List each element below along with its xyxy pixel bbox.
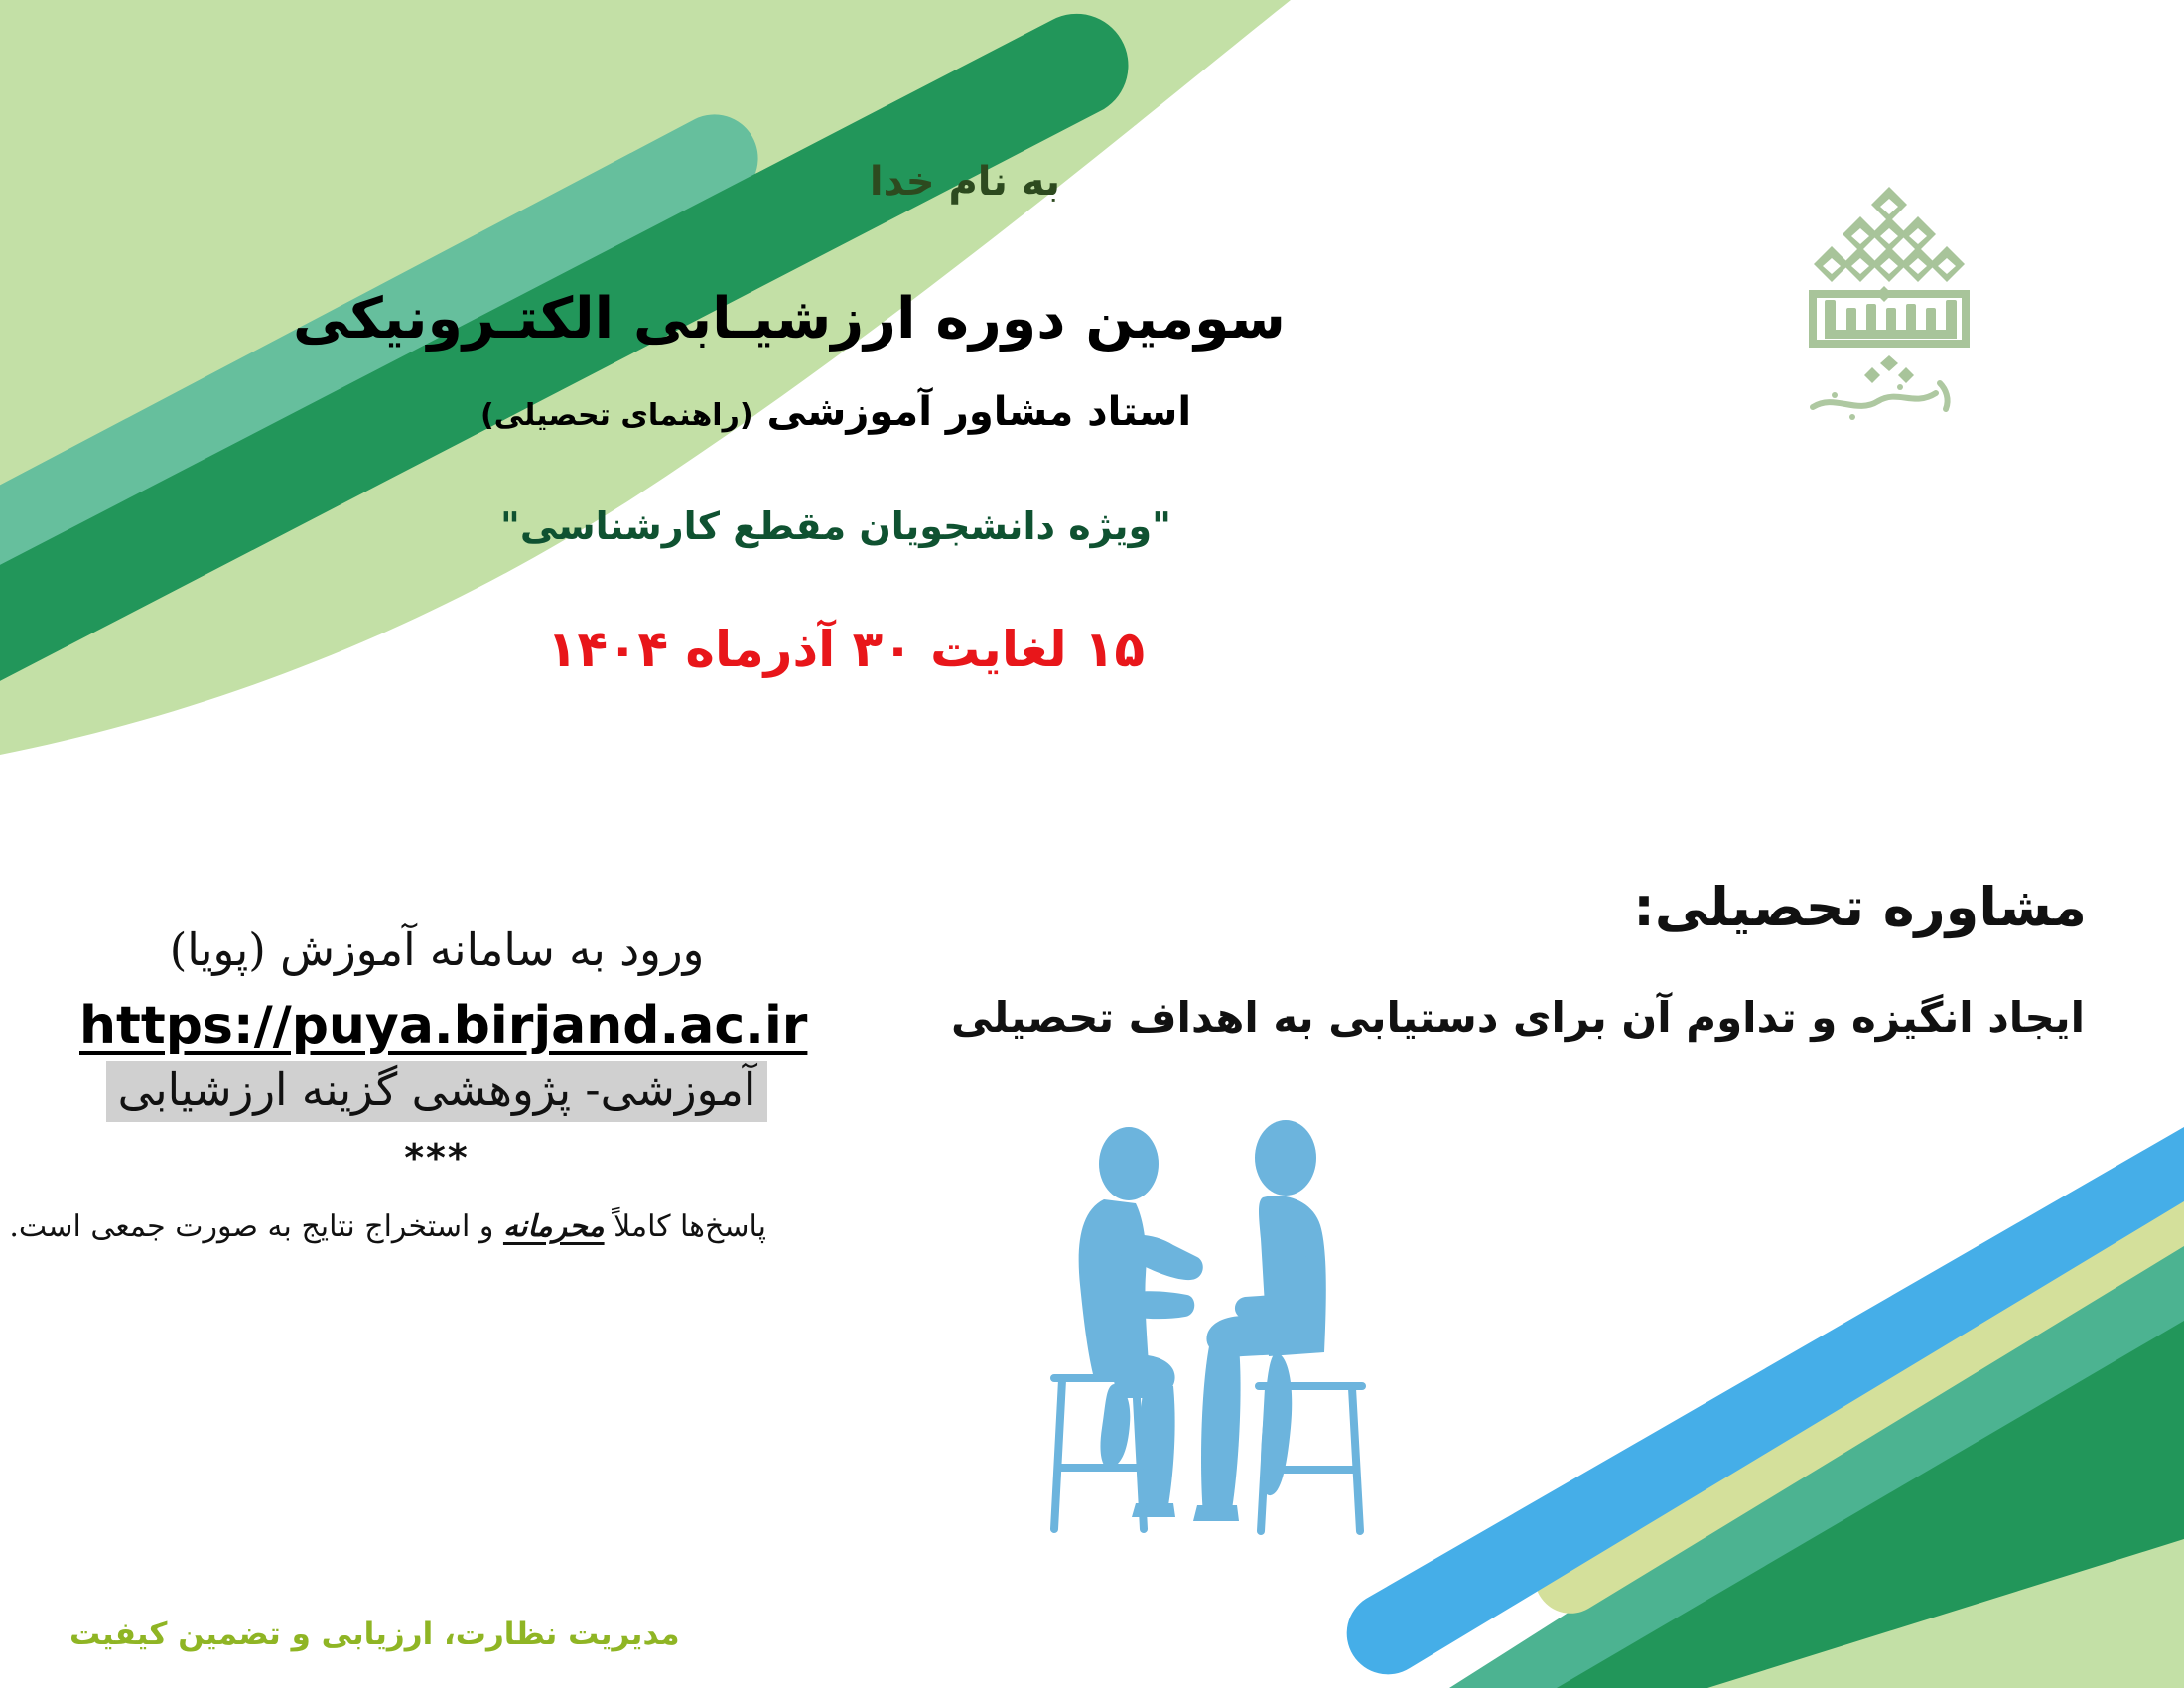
date-range: ۱۵ لغایت ۳۰ آذرماه ۱۴۰۴ bbox=[0, 621, 1938, 678]
issuing-office: مدیریت نظارت، ارزیابی و تضمین کیفیت bbox=[69, 1617, 680, 1652]
subtitle-paren: (راهنمای تحصیلی) bbox=[480, 398, 753, 433]
login-instruction: ورود به سامانه آموزش (پویا) bbox=[79, 923, 794, 976]
confidentiality-suffix: و استخراج نتایج به صورت جمعی است. bbox=[9, 1209, 503, 1244]
audience-line: "ویژه دانشجویان مقطع کارشناسی" bbox=[0, 504, 1928, 548]
access-info-block: ورود به سامانه آموزش (پویا) https://puya… bbox=[79, 923, 794, 1244]
two-people-counseling-illustration bbox=[1032, 1100, 1430, 1537]
counseling-heading: مشاوره تحصیلی: bbox=[1633, 876, 2087, 938]
subtitle-text: استاد مشاور آموزشی bbox=[767, 389, 1192, 435]
bismillah-text: به نام خدا bbox=[0, 159, 2057, 205]
confidentiality-note: پاسخ‌ها کاملاً محرمانه و استخراج نتایج ب… bbox=[52, 1209, 766, 1244]
subtitle-line: استاد مشاور آموزشی (راهنمای تحصیلی) bbox=[0, 389, 1928, 435]
confidentiality-emphasis: محرمانه bbox=[503, 1209, 605, 1244]
menu-path-highlight: آموزشی- پژوهشی گزینه ارزشیابی bbox=[106, 1061, 768, 1122]
counseling-body: ایجاد انگیزه و تداوم آن برای دستیابی به … bbox=[951, 993, 2085, 1042]
page-title: سومین دوره ارزشیـابی الکتـرونیکی bbox=[0, 286, 1881, 352]
confidentiality-prefix: پاسخ‌ها کاملاً bbox=[605, 1209, 766, 1244]
puya-system-link[interactable]: https://puya.birjand.ac.ir bbox=[79, 996, 794, 1055]
separator-asterisks: *** bbox=[79, 1136, 794, 1180]
poster-canvas: به نام خدا سومین دوره ارزشیـابی الکتـرون… bbox=[0, 0, 2184, 1688]
